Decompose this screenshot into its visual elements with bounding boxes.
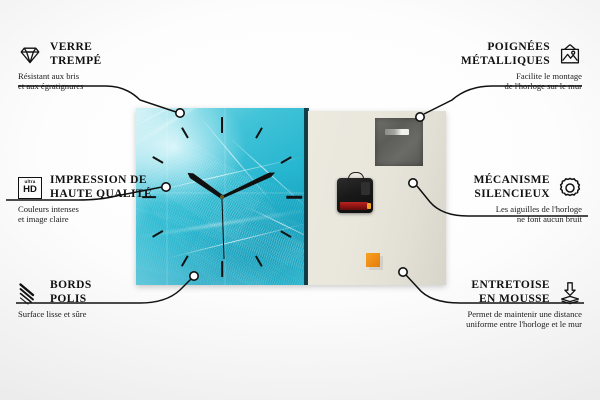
feature-poignees-metalliques[interactable]: POIGNÉES MÉTALLIQUES Facilite le montage… <box>382 41 582 92</box>
down-arrow-stack-icon <box>558 281 582 305</box>
feature-title: POIGNÉES MÉTALLIQUES <box>461 41 550 68</box>
feature-title: VERRE TREMPÉ <box>50 41 102 68</box>
feature-header: MÉCANISME SILENCIEUX <box>382 174 582 201</box>
feature-header: POIGNÉES MÉTALLIQUES <box>382 41 582 68</box>
feature-entretoise-en-mousse[interactable]: ENTRETOISE EN MOUSSE Permet de maintenir… <box>352 279 582 330</box>
feature-header: VERRE TREMPÉ <box>18 41 218 68</box>
ultra-hd-icon-main-label: HD <box>23 185 37 195</box>
feature-subtitle: Permet de maintenir une distance uniform… <box>352 309 582 330</box>
feature-subtitle: Facilite le montage de l'horloge sur le … <box>382 71 582 92</box>
feature-subtitle: Résistant aux bris et aux égratignures <box>18 71 218 92</box>
wall-mount-frame-icon <box>558 43 582 67</box>
clock-center-hub <box>220 195 224 199</box>
feature-verre-trempe[interactable]: VERRE TREMPÉ Résistant aux bris et aux é… <box>18 41 218 92</box>
battery <box>340 202 368 210</box>
feature-title: IMPRESSION DE HAUTE QUALITÉ <box>50 174 152 201</box>
feature-header: ultra HD IMPRESSION DE HAUTE QUALITÉ <box>18 174 218 201</box>
feature-subtitle: Les aiguilles de l'horloge ne font aucun… <box>382 204 582 225</box>
polished-edges-icon <box>18 281 42 305</box>
foam-spacer <box>366 253 380 267</box>
feature-header: ENTRETOISE EN MOUSSE <box>352 279 582 306</box>
feature-title: ENTRETOISE EN MOUSSE <box>471 279 550 306</box>
diamond-icon <box>18 43 42 67</box>
infographic-canvas: VERRE TREMPÉ Résistant aux bris et aux é… <box>0 0 600 400</box>
feature-header: BORDS POLIS <box>18 279 218 306</box>
feature-bords-polis[interactable]: BORDS POLIS Surface lisse et sûre <box>18 279 218 319</box>
clock-tick-12 <box>221 117 223 133</box>
ultra-hd-icon: ultra HD <box>18 177 42 199</box>
gear-icon <box>558 176 582 200</box>
clock-tick-6 <box>221 261 223 277</box>
mechanism-vent <box>361 182 370 195</box>
feature-mecanisme-silencieux[interactable]: MÉCANISME SILENCIEUX Les aiguilles de l'… <box>382 174 582 225</box>
metal-hanger-plate <box>375 118 423 166</box>
feature-title: BORDS POLIS <box>50 279 92 306</box>
feature-impression-haute-qualite[interactable]: ultra HD IMPRESSION DE HAUTE QUALITÉ Cou… <box>18 174 218 225</box>
feature-subtitle: Surface lisse et sûre <box>18 309 218 319</box>
quartz-mechanism-box <box>337 178 373 213</box>
mechanism-hanger-loop <box>348 172 364 181</box>
clock-tick-3 <box>286 195 302 198</box>
feature-subtitle: Couleurs intenses et image claire <box>18 204 218 225</box>
feature-title: MÉCANISME SILENCIEUX <box>474 174 550 201</box>
